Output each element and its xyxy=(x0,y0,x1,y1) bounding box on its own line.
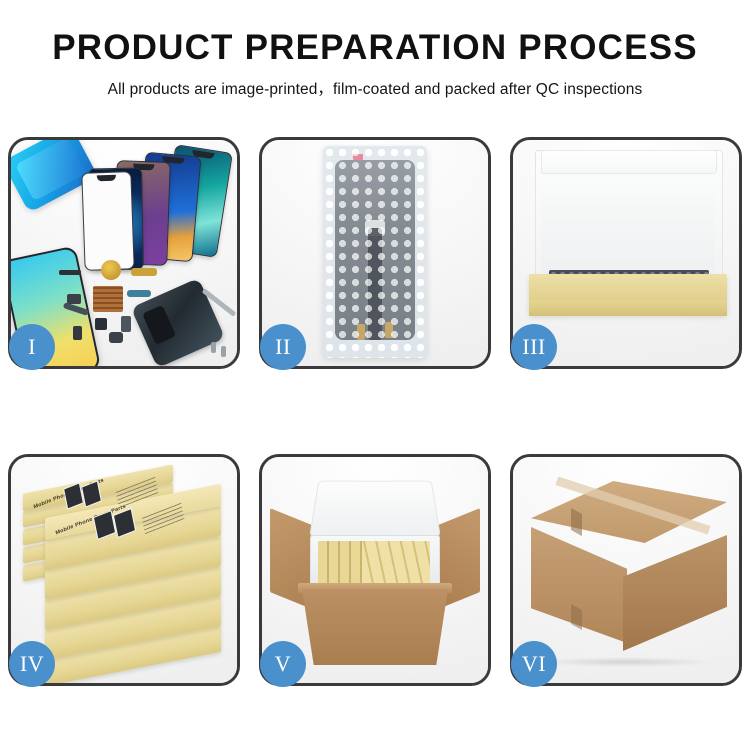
screw-icon xyxy=(221,346,226,357)
carton-right-face xyxy=(623,535,727,651)
step-badge-6: VI xyxy=(511,641,557,687)
copper-grid-part-icon xyxy=(93,286,123,312)
phone-white-front-glass-icon xyxy=(81,171,134,271)
step-badge-2: II xyxy=(260,324,306,370)
carton-top-face xyxy=(531,481,727,543)
step-badge-5: V xyxy=(260,641,306,687)
box-lid-icon xyxy=(541,150,717,174)
phone-fan-group xyxy=(83,148,237,258)
step-badge-4: IV xyxy=(9,641,55,687)
step-panel-1[interactable]: I xyxy=(8,137,240,369)
blue-flex-cable-icon xyxy=(127,290,151,297)
step-panel-2[interactable]: II xyxy=(259,137,491,369)
yellow-box-front-face xyxy=(529,300,727,316)
gold-flex-cable-icon xyxy=(131,268,157,276)
step-panel-3[interactable]: III xyxy=(510,137,742,369)
spare-parts-group xyxy=(59,260,189,360)
ribbon-cable-icon xyxy=(63,302,90,316)
foam-lid-icon xyxy=(309,481,441,538)
page-subtitle: All products are image-printed，film-coat… xyxy=(0,77,750,99)
step-panel-4[interactable]: Mobile Phone Spare Parts Mobile Phone Sp… xyxy=(8,454,240,686)
notch-icon xyxy=(97,175,116,182)
earpiece-part-icon xyxy=(59,270,81,275)
ic-chip-icon xyxy=(95,318,107,330)
step-panel-6[interactable]: VI xyxy=(510,454,742,686)
chip-part-icon xyxy=(67,294,81,304)
header: PRODUCT PREPARATION PROCESS All products… xyxy=(0,0,750,99)
screw-icon xyxy=(211,342,216,353)
step-panel-5[interactable]: V xyxy=(259,454,491,686)
yellow-boxes-inside-icon xyxy=(362,541,430,585)
carton-front-face xyxy=(302,589,448,665)
page-title: PRODUCT PREPARATION PROCESS xyxy=(0,30,750,65)
bubble-texture-overlay xyxy=(323,146,427,358)
infographic-page: PRODUCT PREPARATION PROCESS All products… xyxy=(0,0,750,750)
stacked-boxes-group: Mobile Phone Spare Parts Mobile Phone Sp… xyxy=(19,473,235,673)
speaker-part-icon xyxy=(109,332,123,343)
drop-shadow xyxy=(537,657,717,667)
gold-coil-part-icon xyxy=(101,260,121,280)
step-badge-3: III xyxy=(511,324,557,370)
camera-module-icon xyxy=(73,326,82,340)
battery-part-icon xyxy=(121,316,131,332)
process-step-grid: I II xyxy=(8,137,742,686)
step-badge-1: I xyxy=(9,324,55,370)
foam-sheet-icon xyxy=(541,174,715,278)
bubble-wrap-bag xyxy=(323,146,427,358)
